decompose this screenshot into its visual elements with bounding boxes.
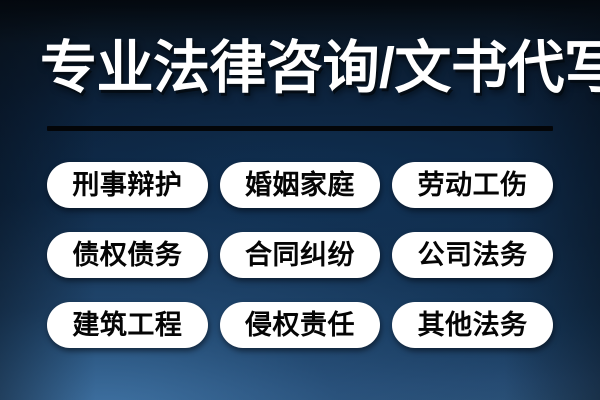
service-category-grid: 刑事辩护 婚姻家庭 劳动工伤 债权债务 合同纠纷 公司法务 建筑工程 侵权责任 … bbox=[47, 162, 553, 348]
service-pill-other-legal[interactable]: 其他法务 bbox=[392, 302, 553, 348]
service-pill-marriage-family[interactable]: 婚姻家庭 bbox=[220, 162, 381, 208]
service-pill-contract-dispute[interactable]: 合同纠纷 bbox=[220, 232, 381, 278]
service-pill-criminal-defense[interactable]: 刑事辩护 bbox=[47, 162, 208, 208]
service-category-row: 建筑工程 侵权责任 其他法务 bbox=[47, 302, 553, 348]
title-divider bbox=[47, 126, 553, 131]
service-pill-tort-liability[interactable]: 侵权责任 bbox=[220, 302, 381, 348]
page-title: 专业法律咨询/文书代写 bbox=[40, 31, 564, 105]
service-pill-creditor-debt[interactable]: 债权债务 bbox=[47, 232, 208, 278]
service-pill-construction-engineering[interactable]: 建筑工程 bbox=[47, 302, 208, 348]
service-pill-labor-injury[interactable]: 劳动工伤 bbox=[392, 162, 553, 208]
promo-banner: 专业法律咨询/文书代写 刑事辩护 婚姻家庭 劳动工伤 债权债务 合同纠纷 公司法… bbox=[0, 0, 600, 400]
service-category-row: 债权债务 合同纠纷 公司法务 bbox=[47, 232, 553, 278]
service-pill-corporate-legal[interactable]: 公司法务 bbox=[392, 232, 553, 278]
service-category-row: 刑事辩护 婚姻家庭 劳动工伤 bbox=[47, 162, 553, 208]
